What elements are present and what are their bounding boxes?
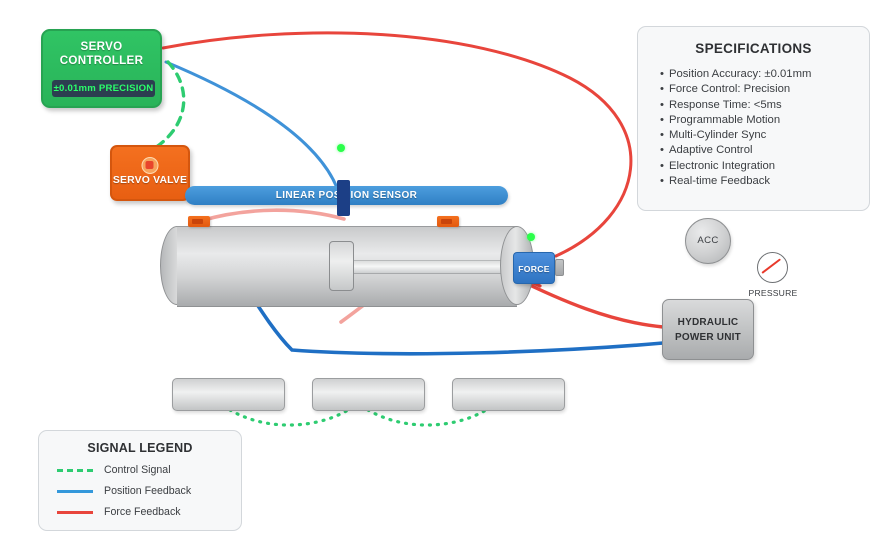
specification-item: Force Control: Precision [660, 82, 869, 97]
precision-badge: ±0.01mm PRECISION [52, 80, 155, 97]
servo-valve-block[interactable]: SERVO VALVE [110, 145, 190, 201]
legend-swatch-force-feedback [57, 511, 93, 514]
servo-controller-title-line1: SERVO [43, 40, 160, 54]
legend-item-position-feedback: Position Feedback [57, 485, 241, 497]
control-signal-bank-sync-1 [230, 410, 348, 425]
force-sensor-mount [555, 259, 564, 276]
specifications-panel: SPECIFICATIONS Position Accuracy: ±0.01m… [637, 26, 870, 211]
pressure-gauge-icon[interactable] [757, 252, 788, 283]
pressure-gauge-label: PRESSURE [737, 288, 809, 298]
diagram-canvas: SERVO CONTROLLER ±0.01mm PRECISION SERVO… [0, 0, 891, 553]
cylinder-piston [329, 241, 354, 291]
specification-item: Real-time Feedback [660, 174, 869, 189]
pressure-gauge-needle [761, 258, 781, 273]
specification-item: Multi-Cylinder Sync [660, 128, 869, 143]
legend-item-force-feedback: Force Feedback [57, 506, 241, 518]
position-sensor-slider-handle[interactable] [337, 180, 350, 216]
cylinder-bank-unit [172, 378, 285, 411]
status-dot-sensor [337, 144, 345, 152]
accumulator-label: ACC [686, 219, 730, 262]
force-sensor-label: FORCE [514, 253, 554, 285]
hydraulic-power-unit-line1: HYDRAULIC [663, 315, 753, 330]
specification-item: Position Accuracy: ±0.01mm [660, 67, 869, 82]
specification-item: Response Time: <5ms [660, 98, 869, 113]
legend-label-control-signal: Control Signal [104, 464, 171, 476]
force-feedback-wire-faded-left [200, 210, 344, 221]
legend-label-force-feedback: Force Feedback [104, 506, 181, 518]
servo-controller-title: SERVO CONTROLLER [43, 40, 160, 68]
hydraulic-power-unit-label: HYDRAULIC POWER UNIT [663, 300, 753, 345]
force-sensor-block[interactable]: FORCE [513, 252, 555, 284]
cylinder-port-left[interactable] [188, 216, 210, 227]
legend-item-control-signal: Control Signal [57, 464, 241, 476]
cylinder-bank-unit [312, 378, 425, 411]
specification-item: Electronic Integration [660, 159, 869, 174]
hydraulic-power-unit-line2: POWER UNIT [663, 330, 753, 345]
specification-item: Programmable Motion [660, 113, 869, 128]
hydraulic-power-unit-block[interactable]: HYDRAULIC POWER UNIT [662, 299, 754, 360]
servo-controller-title-line2: CONTROLLER [43, 54, 160, 68]
specifications-list: Position Accuracy: ±0.01mm Force Control… [638, 67, 869, 189]
status-dot-force [527, 233, 535, 241]
servo-controller-block[interactable]: SERVO CONTROLLER ±0.01mm PRECISION [41, 29, 162, 108]
legend-swatch-control-signal [57, 469, 93, 472]
valve-status-indicator-icon [142, 157, 159, 174]
specifications-title: SPECIFICATIONS [638, 41, 869, 56]
cylinder-bank-unit [452, 378, 565, 411]
legend-swatch-position-feedback [57, 490, 93, 493]
accumulator-block[interactable]: ACC [685, 218, 731, 264]
legend-label-position-feedback: Position Feedback [104, 485, 191, 497]
cylinder-port-right[interactable] [437, 216, 459, 227]
force-feedback-wire-main [163, 33, 631, 256]
servo-valve-label: SERVO VALVE [112, 175, 188, 186]
signal-legend-panel: SIGNAL LEGEND Control Signal Position Fe… [38, 430, 242, 531]
hydraulic-cylinder [160, 226, 528, 305]
control-signal-bank-sync-2 [368, 410, 486, 425]
signal-legend-title: SIGNAL LEGEND [39, 441, 241, 455]
specification-item: Adaptive Control [660, 143, 869, 158]
